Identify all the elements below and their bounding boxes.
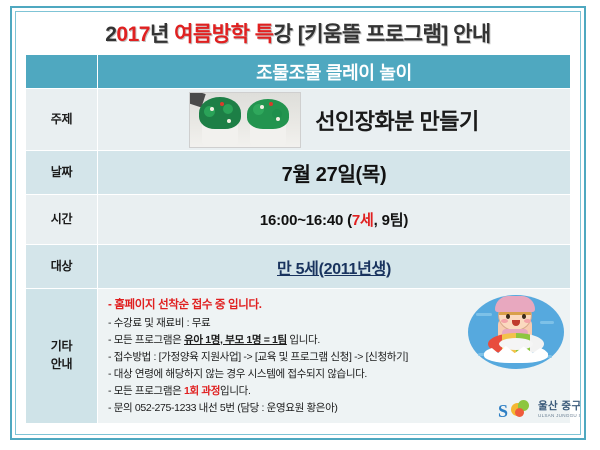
note-line-course: - 모든 프로그램은 1회 과정입니다. [108, 383, 562, 400]
clay-dot-red [220, 102, 224, 106]
note-team-underline: 유아 1명, 부모 1명 = 1팀 [184, 334, 287, 346]
header-label-cell [26, 55, 98, 89]
notes-cell: - 홈페이지 선착순 접수 중 입니다. - 수강료 및 재료비 : 무료 - … [98, 289, 571, 424]
label-notes-line1: 기타 [27, 338, 96, 355]
clay-blob [223, 104, 233, 114]
label-subject: 주제 [26, 89, 98, 151]
table-row-notes: 기타 안내 - 홈페이지 선착순 접수 중 입니다. - 수강료 및 재료비 :… [26, 289, 571, 424]
table-row-time: 시간 16:00~16:40 (7세, 9팀) [26, 195, 571, 245]
label-notes: 기타 안내 [26, 289, 98, 424]
value-target-cell: 만 5세(2011년생) [98, 245, 571, 289]
value-subject: 선인장화분 만들기 [98, 89, 571, 151]
time-age-highlight: 7세 [352, 212, 374, 229]
clay-dot-red [269, 102, 273, 106]
title-seg-2: 년 [150, 23, 174, 46]
label-date: 날짜 [26, 151, 98, 195]
title-seg-6: 강 [키움뜰 프로그램] 안내 [274, 23, 491, 46]
table-row-date: 날짜 7월 27일(목) [26, 151, 571, 195]
label-target: 대상 [26, 245, 98, 289]
clay-dot [227, 119, 231, 123]
logo-letter-s: S [498, 401, 508, 422]
note-line-contact: - 문의 052-275-1233 내선 5번 (담당 : 운영요원 황은아) [108, 400, 562, 417]
table-row-target: 대상 만 5세(2011년생) [26, 245, 571, 289]
poster-title-bar: 2017년 여름방학 특강 [키움뜰 프로그램] 안내 [16, 12, 580, 54]
header-value-cell: 조물조물 클레이 놀이 [98, 55, 571, 89]
note-team-pre: - 모든 프로그램은 [108, 334, 184, 346]
poster-inner-frame: 2017년 여름방학 특강 [키움뜰 프로그램] 안내 조물조물 클레이 놀이 … [15, 11, 581, 435]
cactus-right [247, 99, 289, 129]
girl-eye-left [506, 314, 510, 319]
note-course-pre: - 모든 프로그램은 [108, 385, 184, 397]
value-target: 만 5세(2011년생) [277, 261, 391, 278]
time-pre: 16:00~16:40 ( [260, 212, 352, 229]
logo-name-english: ULSAN JUNGGU SUPPORT CENTER FOR CHILDCAR… [538, 413, 581, 418]
title-seg-1: 017 [116, 23, 150, 46]
title-seg-3: 여름방학 [174, 23, 249, 46]
girl-in-swim-ring-illustration [468, 291, 564, 373]
subject-title: 선인장화분 만들기 [315, 104, 479, 136]
title-seg-0: 2 [105, 23, 116, 46]
logo-name-korean: 울산 중구육아종합지원센터 [538, 401, 581, 413]
clay-dot [260, 105, 264, 109]
program-info-table: 조물조물 클레이 놀이 주제 [25, 54, 571, 424]
girl-cheek-right [524, 319, 531, 323]
subject-content: 선인장화분 만들기 [99, 92, 569, 148]
note-course-post: 입니다. [220, 385, 251, 397]
childcare-center-logo-icon: S [498, 399, 532, 421]
time-post: , 9팀) [374, 212, 408, 229]
wave-line [540, 321, 554, 324]
girl-cheek-left [501, 319, 508, 323]
value-time: 16:00~16:40 (7세, 9팀) [260, 212, 408, 229]
page-title: 2017년 여름방학 특강 [키움뜰 프로그램] 안내 [105, 18, 491, 48]
table-header-row: 조물조물 클레이 놀이 [26, 55, 571, 89]
title-seg-5: 특 [255, 23, 274, 46]
wave-line [476, 313, 492, 316]
note-course-highlight: 1회 과정 [184, 385, 220, 397]
note-team-post: 입니다. [287, 334, 320, 346]
table-row-subject: 주제 [26, 89, 571, 151]
value-time-cell: 16:00~16:40 (7세, 9팀) [98, 195, 571, 245]
clay-dot [210, 107, 214, 111]
organization-logo: S 울산 중구육아종합지원센터 ULSAN JUNGGU SUPPORT CEN… [498, 399, 581, 421]
girl-hat [495, 296, 535, 312]
clay-cactus-photo [189, 92, 301, 148]
logo-blob-red [515, 408, 524, 417]
label-notes-line2: 안내 [27, 356, 96, 373]
clay-dot [276, 117, 280, 121]
label-time: 시간 [26, 195, 98, 245]
program-poster: 2017년 여름방학 특강 [키움뜰 프로그램] 안내 조물조물 클레이 놀이 … [10, 6, 586, 440]
logo-text: 울산 중구육아종합지원센터 ULSAN JUNGGU SUPPORT CENTE… [538, 401, 581, 419]
value-date-cell: 7월 27일(목) [98, 151, 571, 195]
value-date: 7월 27일(목) [282, 164, 387, 186]
